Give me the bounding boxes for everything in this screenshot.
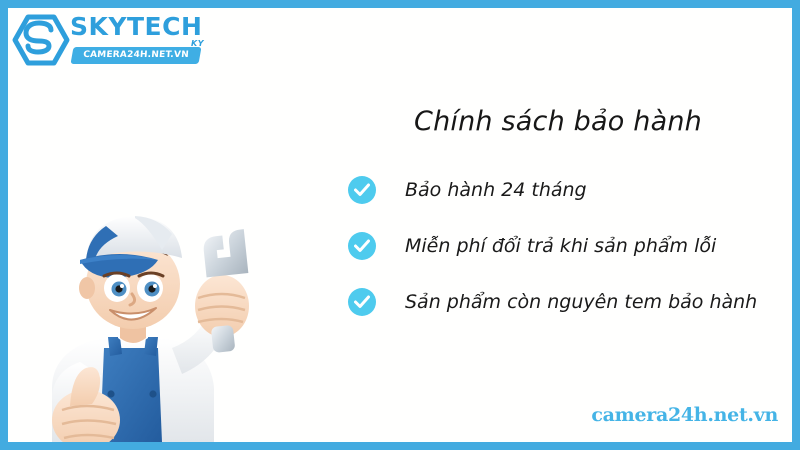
logo-wordmark: SKYTECH [70, 14, 202, 40]
check-circle-icon [348, 288, 376, 316]
skytech-hexagon-s-emblem-icon [12, 14, 70, 66]
warranty-feature-list: Bảo hành 24 tháng Miễn phí đổi trả khi s… [348, 172, 788, 340]
skytech-logo[interactable]: SKYTECH KY CAMERA24H.NET.VN [12, 10, 212, 70]
technician-mascot-thumbs-up-wrench-illustration [22, 198, 262, 442]
banner-canvas: SKYTECH KY CAMERA24H.NET.VN [8, 8, 792, 442]
list-item: Sản phẩm còn nguyên tem bảo hành [348, 284, 788, 340]
check-circle-icon [348, 232, 376, 260]
logo-ribbon-text: CAMERA24H.NET.VN [71, 47, 200, 64]
check-circle-icon [348, 176, 376, 204]
site-watermark: camera24h.net.vn [591, 404, 778, 426]
list-item: Miễn phí đổi trả khi sản phẩm lỗi [348, 228, 788, 284]
promo-banner: SKYTECH KY CAMERA24H.NET.VN [0, 0, 800, 450]
list-item-label: Miễn phí đổi trả khi sản phẩm lỗi [405, 228, 716, 264]
list-item: Bảo hành 24 tháng [348, 172, 788, 228]
list-item-label: Sản phẩm còn nguyên tem bảo hành [405, 284, 757, 320]
page-title: Chính sách bảo hành [348, 106, 768, 137]
logo-ribbon: CAMERA24H.NET.VN [71, 47, 202, 64]
list-item-label: Bảo hành 24 tháng [405, 172, 587, 208]
